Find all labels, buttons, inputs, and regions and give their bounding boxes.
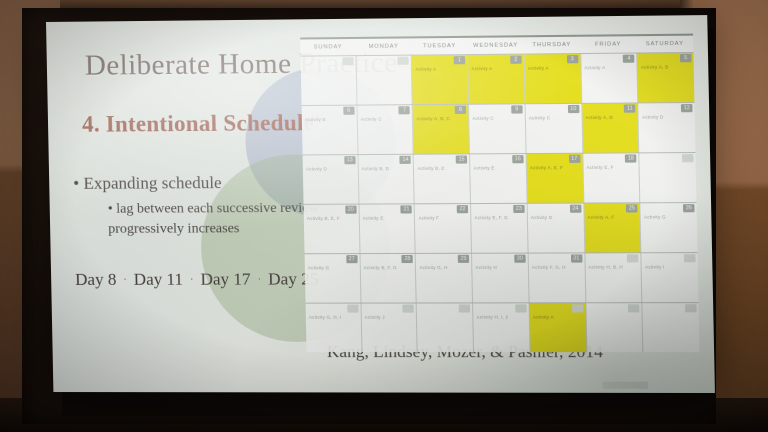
calendar-activity-label: Activity G, H, I — [309, 315, 341, 320]
calendar-day-number: 23 — [513, 205, 524, 213]
calendar-activity-label: Activity C — [472, 116, 493, 121]
calendar-week-row: Activity G, H, I Activity J Activity H, … — [306, 302, 700, 352]
calendar-day-number: 24 — [570, 205, 582, 213]
calendar-activity-label: Activity E, F — [586, 165, 613, 170]
calendar-day-number: 19 — [682, 154, 694, 162]
calendar-activity-label: Activity A — [533, 315, 554, 320]
day-label-2: Day 17 — [200, 270, 251, 290]
calendar-activity-label: Activity D — [306, 166, 327, 171]
day-label-1: Day 11 — [134, 270, 184, 290]
calendar-day-cell[interactable]: 3Activity A — [523, 54, 580, 103]
calendar-body: 1Activity A2Activity A3Activity A4Activi… — [301, 52, 700, 352]
calendar-day-cell[interactable]: 18Activity E, F — [582, 153, 640, 202]
calendar-day-cell[interactable]: 12Activity D — [638, 103, 696, 152]
calendar-weekday-monday: MONDAY — [356, 38, 412, 55]
calendar-day-cell[interactable]: Activity H, B, H — [584, 253, 642, 302]
calendar-day-number: 18 — [625, 154, 637, 162]
calendar-day-cell[interactable]: Activity A — [528, 303, 585, 352]
calendar-activity-label: Activity A, F — [587, 215, 614, 220]
calendar-weekday-friday: FRIDAY — [580, 36, 637, 53]
calendar-day-cell[interactable]: 8Activity A, B, C — [412, 105, 469, 154]
calendar-day-number: 15 — [456, 155, 467, 163]
calendar-day-cell[interactable] — [642, 303, 700, 352]
calendar-day-number — [627, 254, 639, 262]
bullet-level-2-text: lag between each successive review progr… — [108, 201, 319, 237]
calendar-day-cell[interactable]: 16Activity E — [469, 154, 526, 203]
calendar-day-number: 2 — [510, 56, 521, 64]
calendar-day-number — [515, 304, 526, 312]
bullet-level-1-text: Expanding schedule — [83, 173, 222, 193]
calendar-day-cell[interactable]: 1Activity A — [411, 55, 468, 104]
calendar-day-cell[interactable]: Activity G, H, I — [306, 304, 362, 352]
calendar-day-cell[interactable]: Activity H, I, J — [472, 303, 529, 352]
calendar-day-number: 12 — [681, 104, 693, 112]
calendar-activity-label: Activity A, B, C — [416, 116, 450, 121]
calendar-day-number — [459, 304, 470, 312]
calendar-day-cell[interactable]: 11Activity A, D — [581, 103, 639, 152]
calendar-activity-label: Activity E — [473, 165, 494, 170]
calendar-day-cell[interactable] — [585, 303, 643, 352]
bullet-marker-2: • — [108, 202, 113, 217]
day-separator-2: · — [258, 274, 262, 285]
calendar-day-cell[interactable]: 30Activity H — [471, 254, 528, 303]
calendar-day-cell[interactable]: 22Activity F — [414, 204, 471, 253]
calendar-day-number: 20 — [345, 206, 356, 214]
calendar-day-number: 22 — [457, 205, 468, 213]
calendar-day-number: 28 — [402, 255, 413, 263]
calendar-day-number: 8 — [455, 106, 466, 114]
calendar-weekday-thursday: THURSDAY — [524, 37, 581, 54]
calendar-activity-label: Activity B — [305, 117, 326, 122]
calendar-day-number: 3 — [566, 55, 578, 63]
slide-footer-logo — [603, 382, 649, 389]
bullet-marker-1: • — [73, 174, 79, 193]
calendar-day-number: 7 — [399, 106, 410, 114]
calendar-day-cell[interactable]: 19 — [639, 153, 697, 202]
calendar-day-number: 29 — [458, 255, 469, 263]
presentation-slide: Deliberate Home Practice 4. Intentional … — [46, 15, 715, 393]
bullet-level-1: • Expanding schedule — [73, 173, 222, 194]
calendar-activity-label: Activity B, E, F — [307, 216, 340, 221]
calendar-day-cell[interactable]: 24Activity G — [526, 204, 583, 253]
calendar-activity-label: Activity A, B — [641, 64, 669, 69]
calendar-activity-label: Activity F, G, H — [532, 265, 566, 270]
calendar-day-number: 30 — [514, 255, 525, 263]
calendar-activity-label: Activity A, E, F — [530, 165, 563, 170]
calendar-weekday-wednesday: WEDNESDAY — [467, 37, 523, 54]
calendar-day-number — [403, 305, 414, 313]
calendar-activity-label: Activity G — [308, 265, 330, 270]
calendar-activity-label: Activity G — [531, 215, 553, 220]
calendar-day-number: 31 — [571, 254, 583, 262]
calendar-day-cell[interactable]: 17Activity A, E, F — [525, 154, 582, 203]
calendar-day-cell[interactable]: 10Activity C — [524, 104, 581, 153]
calendar-day-cell[interactable]: 15Activity B, E — [413, 154, 470, 203]
calendar-activity-label: Activity A — [415, 67, 436, 72]
calendar-weekday-saturday: SATURDAY — [636, 36, 693, 53]
calendar-day-number: 11 — [624, 104, 636, 112]
calendar-day-cell[interactable]: 20Activity B, E, F — [304, 205, 360, 254]
calendar-activity-label: Activity H, I, J — [477, 315, 509, 320]
calendar-day-cell[interactable]: 31Activity F, G, H — [527, 253, 584, 302]
calendar-day-cell[interactable]: 27Activity G — [305, 254, 361, 303]
calendar-day-number — [628, 304, 640, 312]
calendar-day-number — [347, 305, 358, 313]
calendar-day-number: 16 — [512, 155, 523, 163]
calendar-day-number — [685, 304, 697, 312]
calendar-week-row: 13Activity D14Activity B, D15Activity B,… — [303, 152, 697, 204]
slide-subtitle: 4. Intentional Schedule — [82, 110, 315, 138]
calendar-activity-label: Activity A — [471, 66, 492, 71]
calendar-week-row: 20Activity B, E, F21Activity E22Activity… — [304, 202, 698, 253]
calendar-day-cell[interactable]: 7Activity C — [356, 105, 413, 154]
calendar-day-cell[interactable]: 6Activity B — [302, 106, 358, 155]
calendar-day-cell[interactable]: 25Activity A, F — [583, 203, 641, 252]
calendar-day-number — [342, 57, 353, 65]
projected-slide-surface: Deliberate Home Practice 4. Intentional … — [46, 15, 715, 393]
calendar-day-cell[interactable]: 2Activity A — [467, 55, 524, 104]
calendar-day-number: 9 — [511, 105, 522, 113]
calendar-day-cell[interactable] — [301, 56, 357, 105]
calendar-day-cell[interactable]: 23Activity E, F, G — [470, 204, 527, 253]
calendar-activity-label: Activity B, E — [417, 166, 444, 171]
calendar-activity-label: Activity B, D — [362, 166, 390, 171]
calendar-week-row: 27Activity G28Activity B, F, G29Activity… — [305, 252, 699, 303]
calendar-day-cell[interactable] — [416, 303, 473, 352]
calendar-activity-label: Activity H, B, H — [588, 265, 623, 270]
calendar-weekday-sunday: SUNDAY — [300, 39, 356, 56]
calendar-activity-label: Activity E — [363, 216, 384, 221]
calendar-day-number: 5 — [680, 54, 692, 62]
calendar-day-number: 13 — [344, 156, 355, 164]
calendar-activity-label: Activity J — [365, 315, 385, 320]
calendar-day-number: 14 — [400, 156, 411, 164]
calendar-activity-label: Activity H — [476, 265, 497, 270]
calendar-day-cell[interactable]: 28Activity B, F, G — [359, 254, 416, 303]
calendar-day-number: 6 — [343, 107, 354, 115]
calendar-day-number: 17 — [568, 155, 580, 163]
calendar-activity-label: Activity D — [642, 114, 664, 119]
calendar-day-number: 25 — [626, 204, 638, 212]
calendar-day-cell[interactable]: Activity I — [641, 253, 699, 302]
calendar-day-cell[interactable]: Activity J — [360, 304, 417, 353]
day-label-0: Day 8 — [75, 270, 117, 290]
calendar-activity-label: Activity G — [644, 214, 666, 219]
calendar-day-cell[interactable]: 21Activity E — [358, 204, 415, 253]
calendar-day-cell[interactable]: 9Activity C — [468, 104, 525, 153]
calendar-activity-label: Activity I — [645, 264, 665, 269]
monthly-calendar: SUNDAYMONDAYTUESDAYWEDNESDAYTHURSDAYFRID… — [300, 34, 699, 353]
calendar-day-cell[interactable]: 5Activity A, B — [637, 53, 695, 102]
day-separator-1: · — [190, 274, 194, 285]
photograph-of-projected-slide: Deliberate Home Practice 4. Intentional … — [0, 0, 768, 432]
calendar-activity-label: Activity C — [361, 117, 382, 122]
calendar-activity-label: Activity A — [584, 65, 605, 70]
calendar-day-number: 21 — [401, 205, 412, 213]
calendar-activity-label: Activity F — [418, 215, 439, 220]
calendar-day-number: 10 — [567, 105, 579, 113]
calendar-weekday-tuesday: TUESDAY — [411, 38, 467, 55]
calendar-day-number: 26 — [683, 204, 695, 212]
calendar-activity-label: Activity E, F, G — [475, 215, 509, 220]
day-sequence: Day 8 · Day 11 · Day 17 · Day 25 — [75, 269, 319, 290]
calendar-day-cell[interactable] — [355, 56, 412, 105]
calendar-day-number: 1 — [454, 56, 465, 64]
calendar-week-row: 1Activity A2Activity A3Activity A4Activi… — [301, 52, 695, 105]
calendar-day-number — [398, 57, 409, 65]
calendar-day-cell[interactable]: 29Activity G, H — [415, 254, 472, 303]
calendar-day-cell[interactable]: 4Activity A — [580, 54, 638, 103]
calendar-activity-label: Activity A, D — [585, 115, 613, 120]
calendar-activity-label: Activity B, F, G — [364, 265, 397, 270]
calendar-day-number: 27 — [346, 255, 357, 263]
calendar-activity-label: Activity A — [528, 66, 549, 71]
calendar-day-number — [684, 254, 696, 262]
calendar-day-cell[interactable]: 13Activity D — [303, 155, 359, 204]
day-separator-0: · — [123, 274, 127, 285]
calendar-day-number: 4 — [623, 55, 635, 63]
calendar-day-number — [572, 304, 584, 312]
calendar-day-cell[interactable]: 26Activity G — [640, 203, 698, 252]
calendar-activity-label: Activity C — [529, 115, 551, 120]
calendar-week-row: 6Activity B7Activity C8Activity A, B, C9… — [302, 102, 696, 154]
calendar-day-cell[interactable]: 14Activity B, D — [357, 155, 414, 204]
calendar-activity-label: Activity G, H — [419, 265, 447, 270]
